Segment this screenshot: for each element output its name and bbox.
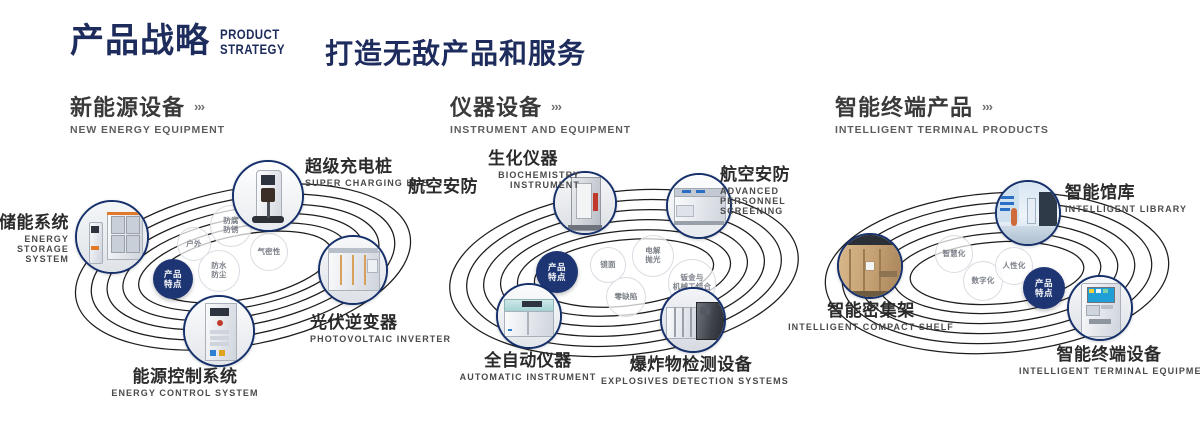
energy-storage-cabinet-icon bbox=[77, 202, 147, 272]
node-super-charging-hub[interactable] bbox=[232, 160, 304, 232]
feature-bubble-zero-defect: 零缺陷 bbox=[606, 277, 646, 317]
feature-badge-core: 产品 特点 bbox=[153, 259, 193, 299]
section-header-new-energy: 新能源设备 ››› NEW ENERGY EQUIPMENT bbox=[70, 95, 225, 136]
page-title: 产品战略 PRODUCT STRATEGY bbox=[70, 24, 299, 58]
label-energy-storage-system: 储能系统 ENERGY STORAGE SYSTEM bbox=[0, 213, 69, 264]
section-title-cn: 智能终端产品 ››› bbox=[835, 95, 1049, 120]
label-automatic-instrument: 全自动仪器 AUTOMATIC INSTRUMENT bbox=[420, 351, 636, 382]
label-intelligent-terminal-equipment: 智能终端设备 INTELLIGENT TERMINAL EQUIPMENT bbox=[1019, 345, 1199, 376]
compact-shelf-icon bbox=[839, 235, 901, 297]
label-advanced-personnel-screening: 航空安防 ADVANCED PERSONNEL SCREENING bbox=[720, 165, 812, 216]
control-cabinet-icon bbox=[185, 297, 253, 365]
feature-bubble-waterproof: 防水 防尘 bbox=[198, 250, 240, 292]
section-title-cn: 仪器设备 ››› bbox=[450, 95, 631, 120]
feature-bubble-airtight: 气密性 bbox=[250, 233, 288, 271]
section-title-cn: 新能源设备 ››› bbox=[70, 95, 225, 120]
chevron-right-icon: ››› bbox=[982, 100, 992, 115]
section-title-en: INSTRUMENT AND EQUIPMENT bbox=[450, 124, 631, 136]
section-header-instrument: 仪器设备 ››› INSTRUMENT AND EQUIPMENT bbox=[450, 95, 631, 136]
label-aviation-security-left: 航空安防 bbox=[408, 177, 478, 196]
page-title-cn: 产品战略 bbox=[70, 24, 210, 58]
library-room-icon bbox=[997, 182, 1059, 244]
cluster-new-energy: 产品 特点 户外 防腐 防锈 防水 防尘 气密性 bbox=[55, 155, 435, 385]
section-title-en: INTELLIGENT TERMINAL PRODUCTS bbox=[835, 124, 1049, 136]
product-strategy-infographic: 产品战略 PRODUCT STRATEGY 打造无敌产品和服务 新能源设备 ››… bbox=[0, 0, 1200, 422]
chevron-right-icon: ››› bbox=[551, 100, 561, 115]
node-intelligent-compact-shelf[interactable] bbox=[837, 233, 903, 299]
node-intelligent-terminal-equipment[interactable] bbox=[1067, 275, 1133, 341]
pv-inverter-cabinet-icon bbox=[320, 237, 386, 303]
label-intelligent-compact-shelf: 智能密集架 INTELLIGENT COMPACT SHELF bbox=[785, 301, 957, 332]
label-intelligent-library: 智能馆库 INTELLIGENT LIBRARY bbox=[1065, 183, 1187, 214]
feature-core-line1: 产品 bbox=[164, 269, 182, 279]
page-title-en: PRODUCT STRATEGY bbox=[220, 27, 285, 56]
page-title-en-line2: STRATEGY bbox=[220, 42, 285, 57]
section-header-intelligent-terminal: 智能终端产品 ››› INTELLIGENT TERMINAL PRODUCTS bbox=[835, 95, 1049, 136]
feature-badge-core: 产品 特点 bbox=[1023, 267, 1065, 309]
section-title-cn-text: 仪器设备 bbox=[450, 95, 542, 120]
page-slogan: 打造无敌产品和服务 bbox=[325, 32, 586, 72]
charging-pile-icon bbox=[234, 162, 302, 230]
label-energy-control-system: 能源控制系统 ENERGY CONTROL SYSTEM bbox=[85, 367, 285, 398]
node-intelligent-library[interactable] bbox=[995, 180, 1061, 246]
node-energy-storage-system[interactable] bbox=[75, 200, 149, 274]
node-automatic-instrument[interactable] bbox=[496, 283, 562, 349]
section-title-cn-text: 智能终端产品 bbox=[835, 95, 973, 120]
node-photovoltaic-inverter[interactable] bbox=[318, 235, 388, 305]
page-title-en-line1: PRODUCT bbox=[220, 27, 285, 42]
feature-core-line2: 特点 bbox=[164, 279, 182, 289]
cluster-instrument: 产品 特点 镜面 电解 抛光 零缺陷 钣金与 机械工结合 航空安防 bbox=[428, 155, 818, 385]
node-energy-control-system[interactable] bbox=[183, 295, 255, 367]
explosive-detector-icon bbox=[662, 289, 724, 351]
automatic-instrument-icon bbox=[498, 285, 560, 347]
node-explosives-detection[interactable] bbox=[660, 287, 726, 353]
chevron-right-icon: ››› bbox=[194, 100, 204, 115]
label-biochemistry-instrument: 生化仪器 BIOCHEMISTRY INSTRUMENT bbox=[488, 149, 580, 190]
self-service-kiosk-icon bbox=[1069, 277, 1131, 339]
section-title-cn-text: 新能源设备 bbox=[70, 95, 185, 120]
feature-bubble-electropolishing: 电解 抛光 bbox=[632, 235, 674, 277]
section-title-en: NEW ENERGY EQUIPMENT bbox=[70, 124, 225, 136]
cluster-intelligent-terminal: 智慧化 数字化 人性化 产品 特点 bbox=[815, 155, 1195, 385]
